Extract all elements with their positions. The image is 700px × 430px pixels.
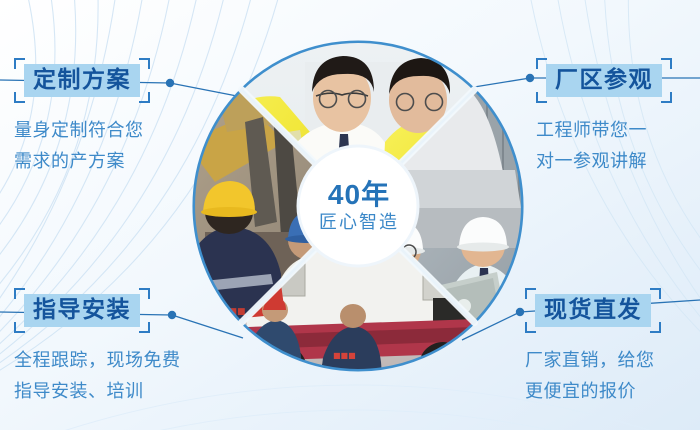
feature-title-wrap-in-stock-shipping: 现货直发: [525, 288, 661, 333]
svg-text:■■■: ■■■: [333, 351, 356, 360]
corner-bracket-icon: [525, 322, 536, 333]
corner-bracket-icon: [536, 58, 547, 69]
feature-desc-line1-factory-visit: 工程师带您一: [536, 116, 672, 145]
feature-title-install-guidance: 指导安装: [24, 294, 140, 327]
corner-bracket-icon: [139, 322, 150, 333]
corner-bracket-icon: [661, 92, 672, 103]
feature-title-wrap-install-guidance: 指导安装: [14, 288, 150, 333]
corner-bracket-icon: [525, 288, 536, 299]
corner-bracket-icon: [139, 288, 150, 299]
feature-desc-line2-custom-plan: 需求的产方案: [14, 147, 150, 176]
feature-install-guidance[interactable]: 指导安装 全程跟踪，现场免费 指导安装、培训: [14, 288, 181, 406]
feature-title-custom-plan: 定制方案: [24, 64, 140, 97]
corner-bracket-icon: [650, 288, 661, 299]
corner-bracket-icon: [536, 92, 547, 103]
feature-in-stock-shipping[interactable]: 现货直发 厂家直销，给您 更便宜的报价: [525, 288, 661, 406]
svg-text:■■■■■: ■■■■■: [203, 307, 246, 317]
corner-bracket-icon: [139, 92, 150, 103]
feature-desc-line1-in-stock-shipping: 厂家直销，给您: [525, 346, 661, 375]
connector-dot-top-left: [166, 79, 174, 87]
corner-bracket-icon: [661, 58, 672, 69]
feature-custom-plan[interactable]: 定制方案 量身定制符合您 需求的产方案: [14, 58, 150, 176]
corner-bracket-icon: [14, 288, 25, 299]
feature-desc-line2-factory-visit: 对一参观讲解: [536, 147, 672, 176]
corner-bracket-icon: [14, 58, 25, 69]
corner-bracket-icon: [14, 322, 25, 333]
feature-desc-line2-install-guidance: 指导安装、培训: [14, 377, 181, 406]
feature-title-in-stock-shipping: 现货直发: [535, 294, 651, 327]
corner-bracket-icon: [14, 92, 25, 103]
circular-photo-collage: ■■■■■ ■■■■■■: [185, 22, 531, 390]
feature-title-wrap-custom-plan: 定制方案: [14, 58, 150, 103]
feature-desc-line2-in-stock-shipping: 更便宜的报价: [525, 377, 661, 406]
corner-bracket-icon: [139, 58, 150, 69]
feature-title-wrap-factory-visit: 厂区参观: [536, 58, 672, 103]
feature-factory-visit[interactable]: 厂区参观 工程师带您一 对一参观讲解: [536, 58, 672, 176]
corner-bracket-icon: [650, 322, 661, 333]
feature-desc-line1-install-guidance: 全程跟踪，现场免费: [14, 346, 181, 375]
promo-banner: ■■■■■ ■■■■■■: [0, 0, 700, 430]
feature-title-factory-visit: 厂区参观: [546, 64, 662, 97]
feature-desc-line1-custom-plan: 量身定制符合您: [14, 116, 150, 145]
